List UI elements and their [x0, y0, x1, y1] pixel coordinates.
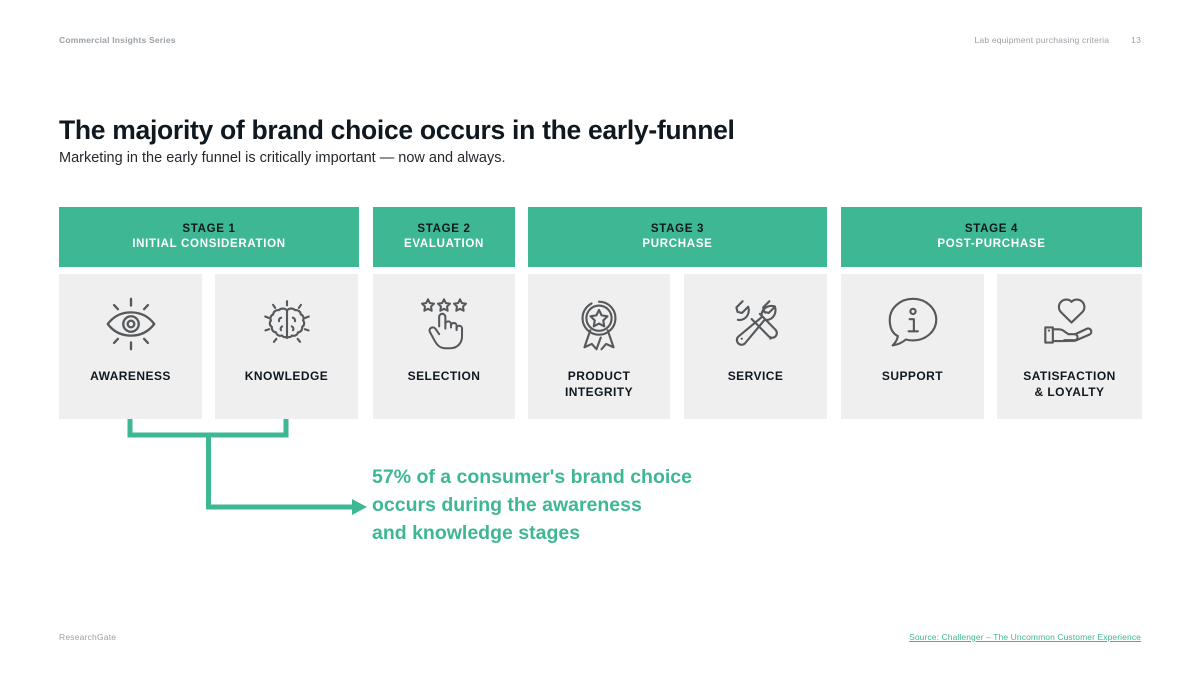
stage-name: PURCHASE: [642, 237, 712, 252]
card-label: SUPPORT: [882, 368, 943, 384]
card-label: SELECTION: [408, 368, 481, 384]
stage-name: POST-PURCHASE: [937, 237, 1045, 252]
series-label: Commercial Insights Series: [59, 35, 176, 45]
card-support[interactable]: SUPPORT: [841, 274, 984, 419]
stage-name: INITIAL CONSIDERATION: [132, 237, 286, 252]
stage-band-1: STAGE 1 INITIAL CONSIDERATION: [59, 207, 359, 267]
info-speech-bubble-icon: [882, 293, 944, 355]
stage-band-4: STAGE 4 POST-PURCHASE: [841, 207, 1142, 267]
page-title: The majority of brand choice occurs in t…: [59, 115, 735, 146]
eye-icon: [100, 293, 162, 355]
footer-brand: ResearchGate: [59, 632, 116, 642]
page-number: 13: [1131, 35, 1141, 45]
stage-band-2: STAGE 2 EVALUATION: [373, 207, 515, 267]
stars-hand-icon: [413, 293, 475, 355]
card-satisfaction-loyalty[interactable]: SATISFACTION & LOYALTY: [997, 274, 1142, 419]
stage-number: STAGE 1: [182, 222, 235, 237]
header-right-group: Lab equipment purchasing criteria 13: [974, 35, 1141, 45]
card-label: AWARENESS: [90, 368, 171, 384]
stage-header-row: STAGE 1 INITIAL CONSIDERATION STAGE 2 EV…: [59, 207, 1142, 267]
card-label: SATISFACTION & LOYALTY: [1023, 368, 1116, 400]
card-service[interactable]: SERVICE: [684, 274, 827, 419]
callout-text: 57% of a consumer's brand choice occurs …: [372, 464, 802, 548]
hand-heart-icon: [1039, 293, 1101, 355]
footer-source-link[interactable]: Source: Challenger – The Uncommon Custom…: [909, 632, 1141, 642]
card-label: SERVICE: [728, 368, 784, 384]
document-title: Lab equipment purchasing criteria: [974, 35, 1109, 45]
card-awareness[interactable]: AWARENESS: [59, 274, 202, 419]
stage-cards-row: AWARENESS KNOWLEDGE: [59, 274, 1142, 419]
card-selection[interactable]: SELECTION: [373, 274, 515, 419]
wrench-screwdriver-icon: [725, 293, 787, 355]
slide-header: Commercial Insights Series Lab equipment…: [59, 33, 1141, 47]
stage-number: STAGE 2: [417, 222, 470, 237]
arrow-head-icon: [352, 499, 367, 515]
brain-icon: [256, 293, 318, 355]
page-subtitle: Marketing in the early funnel is critica…: [59, 150, 505, 166]
stage-band-3: STAGE 3 PURCHASE: [528, 207, 827, 267]
award-medal-icon: [568, 293, 630, 355]
stage-number: STAGE 3: [651, 222, 704, 237]
slide-footer: ResearchGate Source: Challenger – The Un…: [59, 630, 1141, 644]
card-knowledge[interactable]: KNOWLEDGE: [215, 274, 358, 419]
stage-number: STAGE 4: [965, 222, 1018, 237]
stage-name: EVALUATION: [404, 237, 484, 252]
card-label: KNOWLEDGE: [245, 368, 328, 384]
card-product-integrity[interactable]: PRODUCT INTEGRITY: [528, 274, 670, 419]
card-label: PRODUCT INTEGRITY: [565, 368, 633, 400]
